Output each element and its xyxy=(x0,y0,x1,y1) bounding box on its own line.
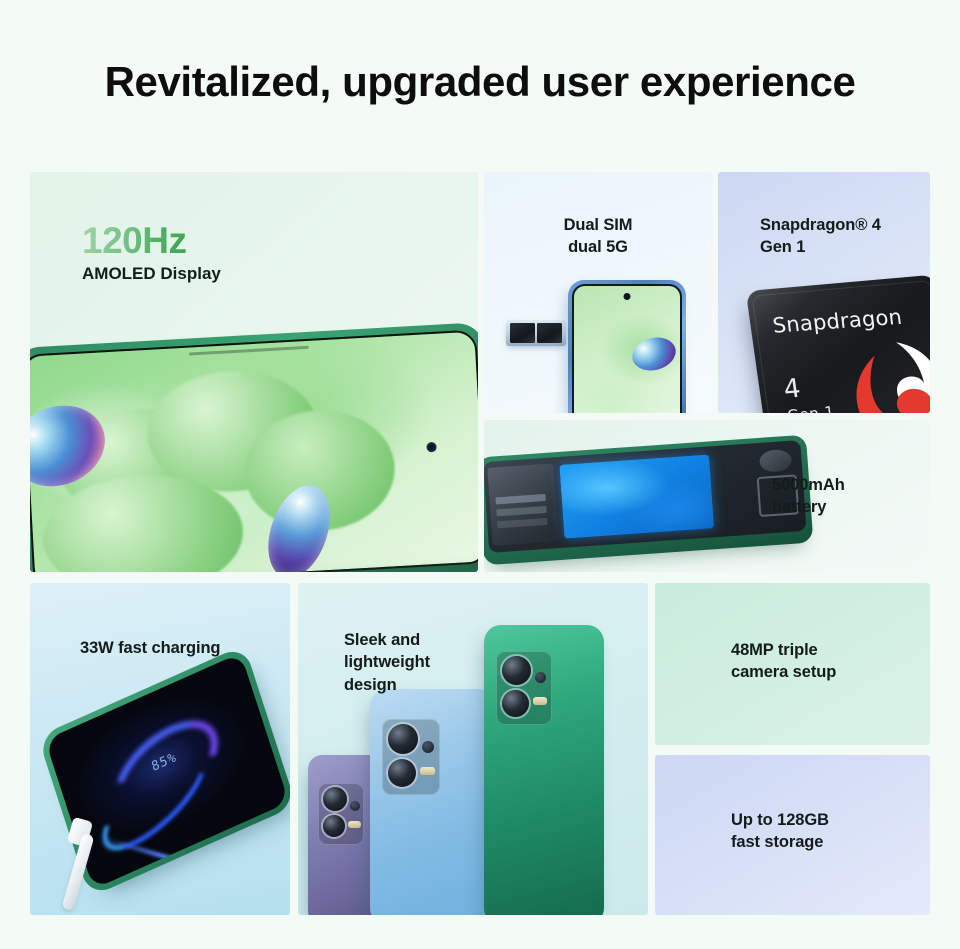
camera-lens-main xyxy=(323,787,347,811)
camera-lens-secondary xyxy=(502,690,529,717)
battery-cell-image xyxy=(559,454,714,538)
wallpaper-iridescent-orb xyxy=(629,333,680,375)
phone-blue-image xyxy=(370,689,496,915)
battery-label: 5000mAh battery xyxy=(772,474,904,519)
chip-number: 4 xyxy=(782,374,803,405)
blue-phone-image xyxy=(568,280,686,413)
feature-card-snapdragon[interactable]: Snapdragon® 4 Gen 1 Snapdragon 4 Gen 1 xyxy=(718,172,930,413)
phone-screen xyxy=(30,329,478,572)
amoled-refresh-rate-headline: 120Hz xyxy=(82,220,186,262)
design-label: Sleek and lightweight design xyxy=(344,629,430,696)
phone-internals-image xyxy=(484,435,813,566)
feature-card-camera[interactable]: 48MP triple camera setup xyxy=(655,583,930,745)
camera-lens-secondary xyxy=(388,759,416,787)
front-camera-punch-hole-icon xyxy=(426,442,437,453)
feature-card-amoled-display[interactable]: 120Hz AMOLED Display xyxy=(30,172,478,572)
page-title: Revitalized, upgraded user experience xyxy=(0,58,960,106)
chip-model-text: 4 Gen 1 xyxy=(782,370,836,413)
storage-label: Up to 128GB fast storage xyxy=(731,809,829,854)
camera-lens-main xyxy=(502,656,531,685)
camera-module xyxy=(382,719,440,795)
phone-internals xyxy=(484,440,807,553)
camera-flash-icon xyxy=(348,821,361,828)
camera-module xyxy=(496,651,552,725)
charging-animation-beam xyxy=(105,837,194,867)
camera-lens-tertiary xyxy=(535,672,546,683)
dual-sim-label: Dual SIM dual 5G xyxy=(484,214,712,259)
camera-label: 48MP triple camera setup xyxy=(731,639,836,684)
fast-charging-label: 33W fast charging xyxy=(80,637,220,659)
front-camera-punch-hole-icon xyxy=(624,293,631,300)
motherboard-component xyxy=(487,463,558,545)
green-phone-amoled-image xyxy=(30,322,478,572)
amoled-display-subtitle: AMOLED Display xyxy=(82,264,221,284)
phone-green-image xyxy=(484,625,604,915)
camera-lens-main xyxy=(388,724,418,754)
sim-tray-image xyxy=(506,320,566,346)
snapdragon-label: Snapdragon® 4 Gen 1 xyxy=(760,214,881,259)
camera-module xyxy=(318,783,364,845)
camera-flash-icon xyxy=(420,767,435,775)
feature-card-design[interactable]: Sleek and lightweight design xyxy=(298,583,648,915)
camera-lens-tertiary xyxy=(350,801,360,811)
feature-card-fast-charging[interactable]: 33W fast charging 85% xyxy=(30,583,290,915)
camera-flash-icon xyxy=(533,697,547,705)
sim-card-2 xyxy=(537,323,562,343)
phone-screen xyxy=(572,284,682,413)
earpiece-icon xyxy=(189,346,309,356)
feature-card-storage[interactable]: Up to 128GB fast storage xyxy=(655,755,930,915)
camera-lens-tertiary xyxy=(422,741,434,753)
sim-card-1 xyxy=(510,323,535,343)
snapdragon-dragon-logo-icon xyxy=(840,333,930,413)
internal-module-secondary xyxy=(759,449,792,473)
feature-card-battery[interactable]: 5000mAh battery xyxy=(484,420,930,572)
feature-card-dual-sim[interactable]: Dual SIM dual 5G xyxy=(484,172,712,413)
snapdragon-chip-image: Snapdragon 4 Gen 1 xyxy=(746,275,930,413)
camera-lens-secondary xyxy=(323,815,345,837)
chip-brand-text: Snapdragon xyxy=(771,305,903,338)
